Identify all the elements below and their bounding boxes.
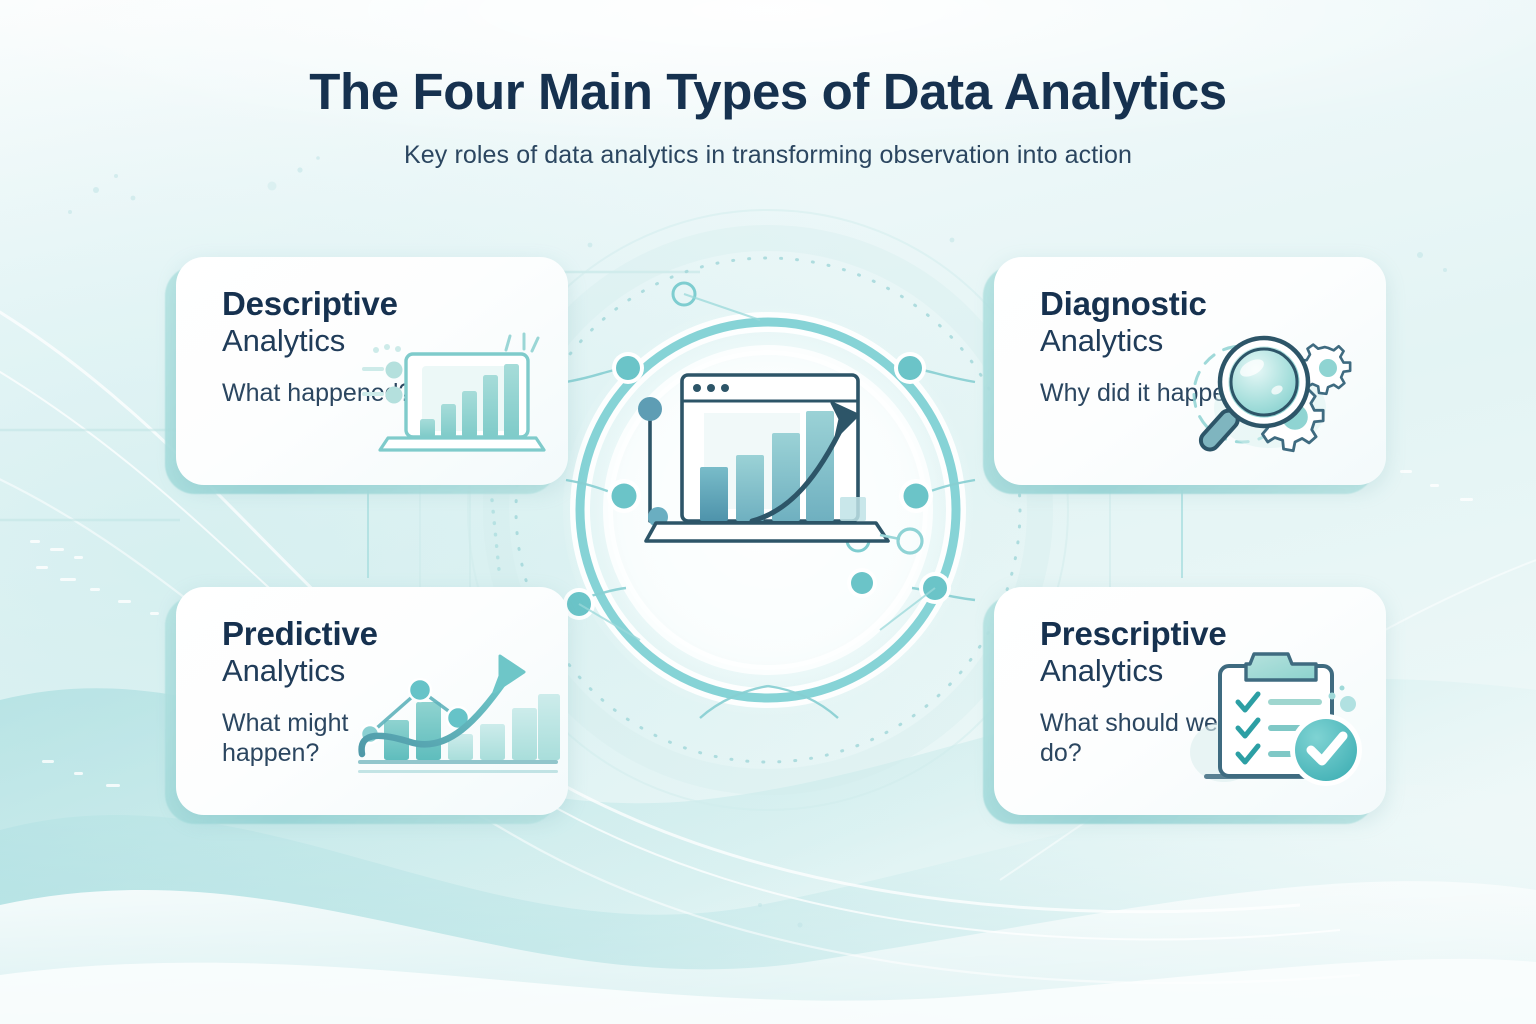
card-predictive[interactable]: Predictive Analytics What might happen? xyxy=(176,587,568,815)
hub-dashboard-growth-chart-icon xyxy=(600,345,936,680)
card-surface: Descriptive Analytics What happened? xyxy=(176,257,568,485)
infographic-canvas: The Four Main Types of Data Analytics Ke… xyxy=(0,0,1536,1024)
card-surface: Diagnostic Analytics Why did it happen? xyxy=(994,257,1386,485)
trend-up-arrow-chart-icon xyxy=(348,642,560,789)
header: The Four Main Types of Data Analytics Ke… xyxy=(0,62,1536,170)
page-title: The Four Main Types of Data Analytics xyxy=(0,62,1536,121)
card-surface: Predictive Analytics What might happen? xyxy=(176,587,568,815)
magnifier-gears-icon xyxy=(1178,312,1374,473)
card-prescriptive[interactable]: Prescriptive Analytics What should we do… xyxy=(994,587,1386,815)
laptop-bar-chart-icon xyxy=(360,314,550,469)
clipboard-checkmark-icon xyxy=(1176,644,1366,799)
card-descriptive[interactable]: Descriptive Analytics What happened? xyxy=(176,257,568,485)
card-diagnostic[interactable]: Diagnostic Analytics Why did it happen? xyxy=(994,257,1386,485)
card-surface: Prescriptive Analytics What should we do… xyxy=(994,587,1386,815)
page-subtitle: Key roles of data analytics in transform… xyxy=(0,141,1536,170)
